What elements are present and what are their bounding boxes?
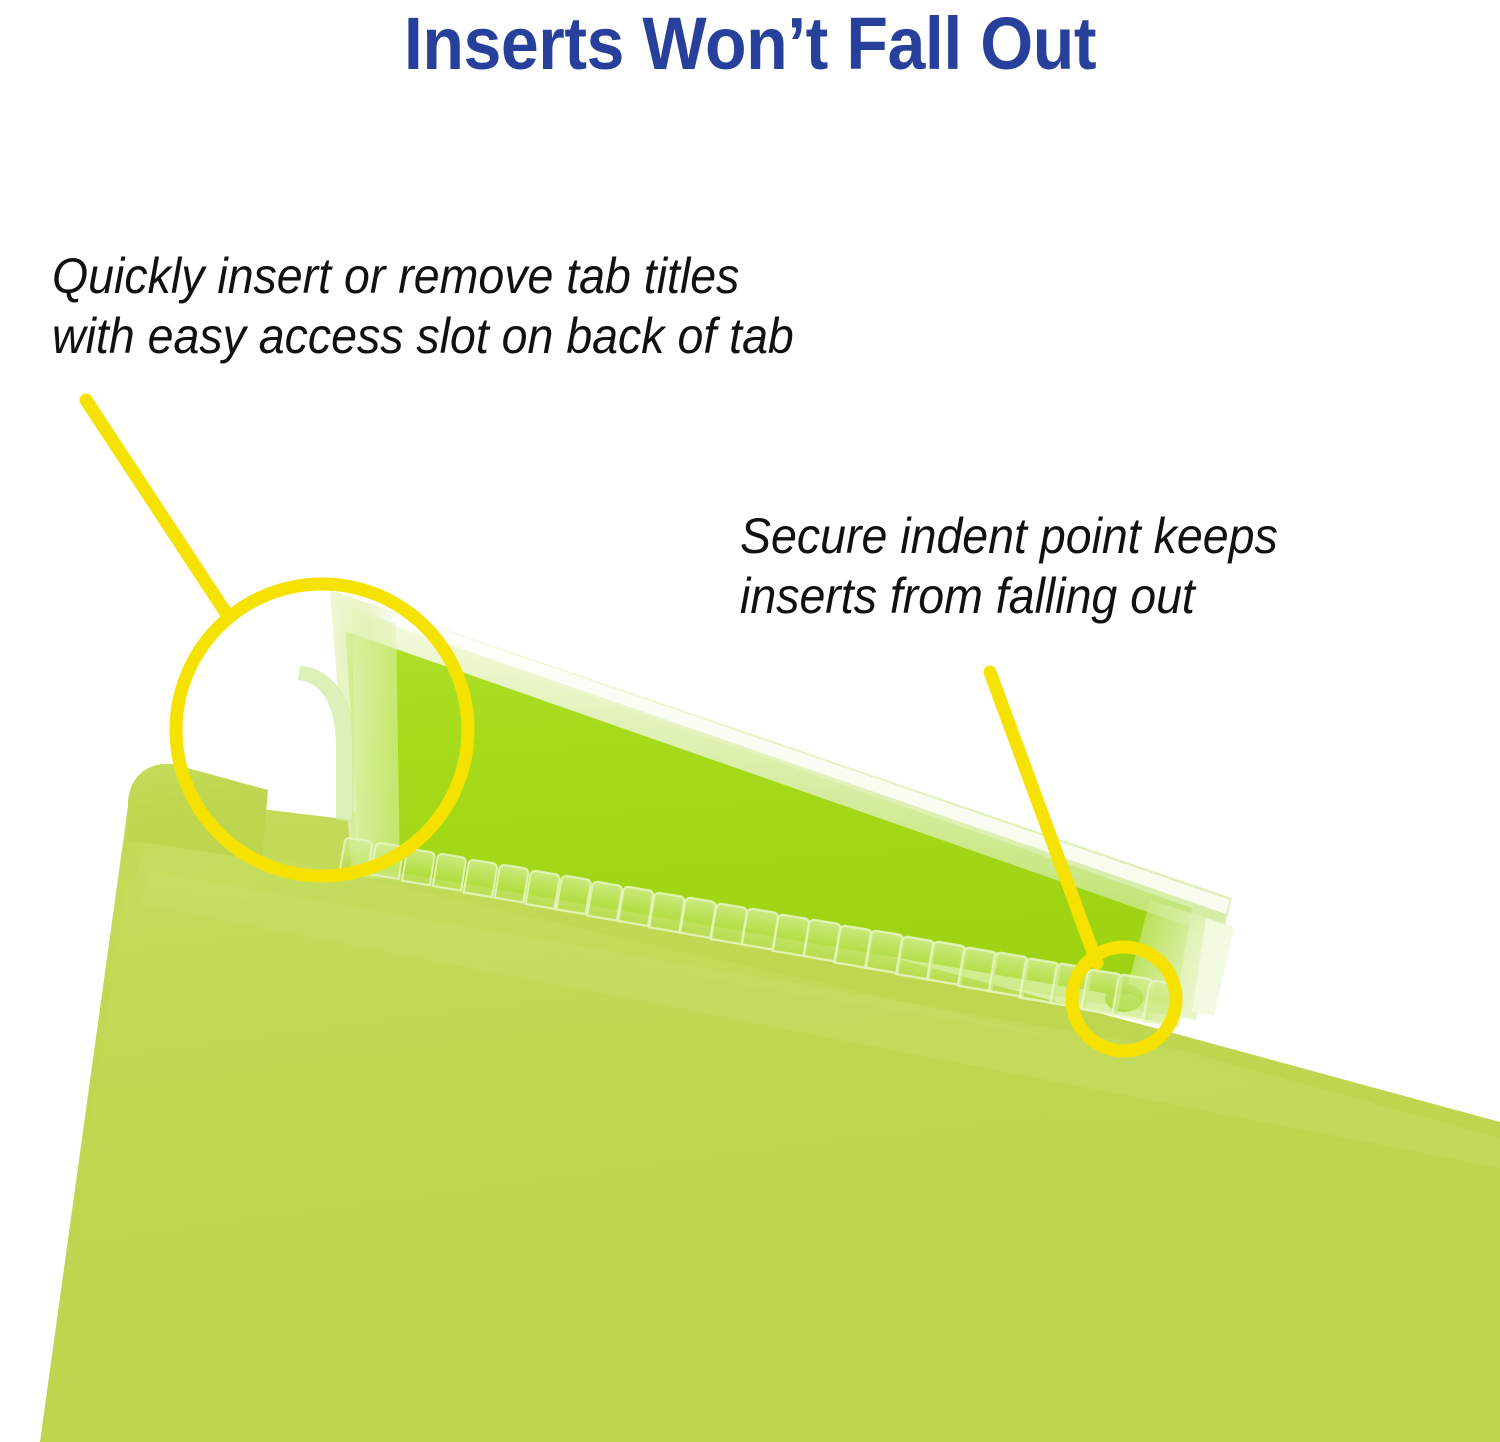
- infographic-canvas: Inserts Won’t Fall Out: [0, 0, 1500, 1442]
- callout-line-2: inserts from falling out: [740, 566, 1278, 626]
- product-photo: [0, 0, 1500, 1442]
- callout-line-1: Secure indent point keeps: [740, 506, 1278, 566]
- callout-line-2: with easy access slot on back of tab: [52, 306, 794, 366]
- callout-line-1: Quickly insert or remove tab titles: [52, 246, 794, 306]
- callout-easy-access-slot: Quickly insert or remove tab titles with…: [52, 246, 794, 366]
- callout-secure-indent-point: Secure indent point keeps inserts from f…: [740, 506, 1278, 626]
